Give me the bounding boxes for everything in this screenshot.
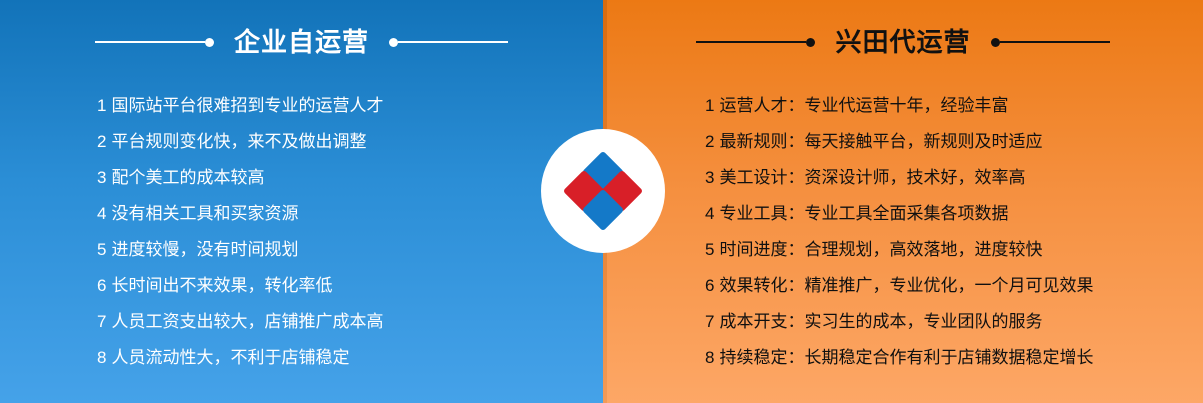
list-item-text: 国际站平台很难招到专业的运营人才	[111, 96, 383, 115]
list-item-number: 6	[97, 268, 106, 304]
list-item-text: 运营人才：专业代运营十年，经验丰富	[719, 96, 1008, 115]
list-item: 2平台规则变化快，来不及做出调整	[97, 124, 527, 160]
list-item-number: 7	[97, 304, 106, 340]
list-item-number: 8	[97, 340, 106, 376]
list-item-number: 3	[97, 160, 106, 196]
left-panel-list: 1国际站平台很难招到专业的运营人才 2平台规则变化快，来不及做出调整 3配个美工…	[97, 88, 527, 376]
list-item-number: 1	[705, 88, 714, 124]
list-item: 2最新规则：每天接触平台，新规则及时适应	[705, 124, 1175, 160]
list-item: 1国际站平台很难招到专业的运营人才	[97, 88, 527, 124]
right-panel: 兴田代运营 1运营人才：专业代运营十年，经验丰富 2最新规则：每天接触平台，新规…	[603, 0, 1203, 403]
right-header-rule-start	[696, 38, 815, 47]
list-item-text: 人员工资支出较大，店铺推广成本高	[111, 312, 383, 331]
list-item-number: 7	[705, 304, 714, 340]
rule-line-icon	[696, 41, 806, 43]
rule-dot-icon	[205, 38, 214, 47]
rule-line-icon	[398, 41, 508, 43]
rule-dot-icon	[991, 38, 1000, 47]
list-item-number: 5	[97, 232, 106, 268]
list-item: 3美工设计：资深设计师，技术好，效率高	[705, 160, 1175, 196]
list-item-text: 人员流动性大，不利于店铺稳定	[111, 348, 349, 367]
left-panel-header: 企业自运营	[0, 20, 603, 64]
list-item: 3配个美工的成本较高	[97, 160, 527, 196]
list-item-text: 时间进度：合理规划，高效落地，进度较快	[719, 240, 1042, 259]
right-panel-title: 兴田代运营	[815, 29, 990, 55]
list-item: 8人员流动性大，不利于店铺稳定	[97, 340, 527, 376]
list-item-text: 进度较慢，没有时间规划	[111, 240, 298, 259]
rule-dot-icon	[389, 38, 398, 47]
diamond-logo-icon	[569, 157, 637, 225]
comparison-banner: 企业自运营 1国际站平台很难招到专业的运营人才 2平台规则变化快，来不及做出调整…	[0, 0, 1203, 403]
list-item: 7人员工资支出较大，店铺推广成本高	[97, 304, 527, 340]
list-item: 1运营人才：专业代运营十年，经验丰富	[705, 88, 1175, 124]
left-header-rule-start	[95, 38, 214, 47]
list-item-number: 4	[705, 196, 714, 232]
list-item-number: 2	[97, 124, 106, 160]
right-panel-header: 兴田代运营	[603, 20, 1203, 64]
list-item: 6效果转化：精准推广，专业优化，一个月可见效果	[705, 268, 1175, 304]
list-item-number: 1	[97, 88, 106, 124]
list-item-text: 持续稳定：长期稳定合作有利于店铺数据稳定增长	[719, 348, 1093, 367]
right-header-rule-end	[991, 38, 1110, 47]
list-item: 6长时间出不来效果，转化率低	[97, 268, 527, 304]
rule-dot-icon	[806, 38, 815, 47]
list-item-number: 5	[705, 232, 714, 268]
list-item-text: 成本开支：实习生的成本，专业团队的服务	[719, 312, 1042, 331]
list-item: 5时间进度：合理规划，高效落地，进度较快	[705, 232, 1175, 268]
list-item-number: 4	[97, 196, 106, 232]
left-header-rule-end	[389, 38, 508, 47]
list-item-text: 配个美工的成本较高	[111, 168, 264, 187]
list-item-number: 3	[705, 160, 714, 196]
center-logo-badge	[541, 129, 665, 253]
list-item-text: 没有相关工具和买家资源	[111, 204, 298, 223]
list-item-text: 美工设计：资深设计师，技术好，效率高	[719, 168, 1025, 187]
left-panel: 企业自运营 1国际站平台很难招到专业的运营人才 2平台规则变化快，来不及做出调整…	[0, 0, 603, 403]
list-item-text: 长时间出不来效果，转化率低	[111, 276, 332, 295]
list-item: 8持续稳定：长期稳定合作有利于店铺数据稳定增长	[705, 340, 1175, 376]
list-item-text: 平台规则变化快，来不及做出调整	[111, 132, 366, 151]
list-item-number: 2	[705, 124, 714, 160]
rule-line-icon	[1000, 41, 1110, 43]
list-item-number: 8	[705, 340, 714, 376]
rule-line-icon	[95, 41, 205, 43]
list-item-text: 最新规则：每天接触平台，新规则及时适应	[719, 132, 1042, 151]
list-item-text: 效果转化：精准推广，专业优化，一个月可见效果	[719, 276, 1093, 295]
list-item-text: 专业工具：专业工具全面采集各项数据	[719, 204, 1008, 223]
list-item: 5进度较慢，没有时间规划	[97, 232, 527, 268]
list-item: 4专业工具：专业工具全面采集各项数据	[705, 196, 1175, 232]
list-item: 4没有相关工具和买家资源	[97, 196, 527, 232]
right-panel-list: 1运营人才：专业代运营十年，经验丰富 2最新规则：每天接触平台，新规则及时适应 …	[705, 88, 1175, 376]
left-panel-title: 企业自运营	[214, 29, 389, 55]
list-item-number: 6	[705, 268, 714, 304]
list-item: 7成本开支：实习生的成本，专业团队的服务	[705, 304, 1175, 340]
